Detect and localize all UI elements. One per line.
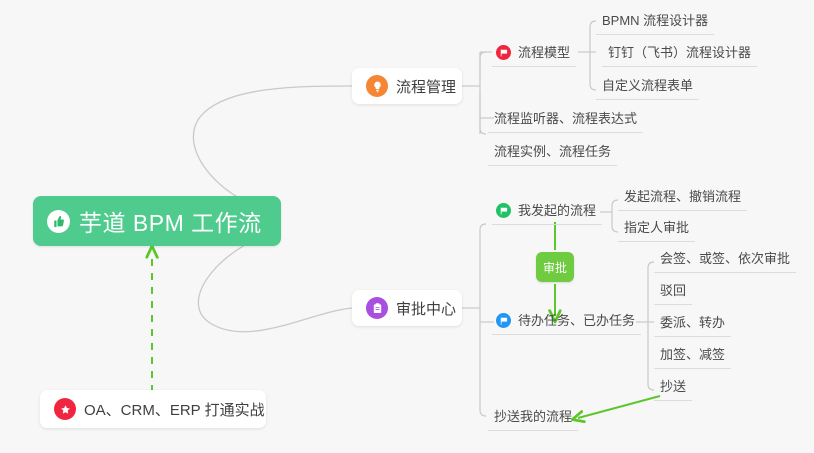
connector-sz-bracket [480, 224, 486, 416]
branch-node-liucheng-guanli[interactable]: 流程管理 [352, 68, 462, 104]
lightbulb-icon [366, 75, 388, 97]
leaf-chaosong-wode-liucheng[interactable]: 抄送我的流程 [488, 408, 578, 431]
mindmap-canvas: 芋道 BPM 工作流 流程管理 流程模型 BPMN 流程设计器 钉钉（飞书）流程… [0, 0, 814, 453]
leaf-listener-expression[interactable]: 流程监听器、流程表达式 [488, 110, 643, 133]
leaf-cc[interactable]: 抄送 [654, 378, 692, 401]
leaf-reject[interactable]: 驳回 [654, 282, 692, 305]
node-label: OA、CRM、ERP 打通实战 [84, 399, 265, 420]
arrow-chaosong-to-chaosongwode [578, 396, 660, 418]
branch-label: 流程管理 [396, 76, 456, 97]
node-label: 待办任务、已办任务 [518, 312, 635, 329]
leaf-instance-task[interactable]: 流程实例、流程任务 [488, 143, 617, 166]
flag-icon [496, 203, 511, 218]
connector-root-to-liucheng-guanli [193, 86, 352, 213]
clipboard-icon [366, 297, 388, 319]
flag-icon [496, 313, 511, 328]
root-node[interactable]: 芋道 BPM 工作流 [33, 196, 281, 246]
flag-icon [496, 45, 511, 60]
branch-node-shenpi-zhongxin[interactable]: 审批中心 [352, 290, 462, 326]
node-label: 我发起的流程 [518, 202, 596, 219]
node-wo-faqi-de-liucheng[interactable]: 我发起的流程 [492, 202, 602, 225]
connector-root-to-shenpi-zhongxin [198, 231, 352, 332]
leaf-add-remove-sign[interactable]: 加签、减签 [654, 346, 731, 369]
leaf-dingtalk-designer[interactable]: 钉钉（飞书）流程设计器 [602, 44, 757, 67]
branch-label: 审批中心 [396, 298, 456, 319]
node-daiban-yiban-renwu[interactable]: 待办任务、已办任务 [492, 312, 641, 335]
leaf-assignee-approval[interactable]: 指定人审批 [618, 219, 695, 242]
thumbs-up-icon [47, 210, 70, 233]
node-oa-crm-erp[interactable]: OA、CRM、ERP 打通实战 [40, 390, 266, 428]
badge-label: 审批 [543, 259, 567, 276]
leaf-start-cancel-process[interactable]: 发起流程、撤销流程 [618, 188, 747, 211]
node-label: 流程模型 [518, 44, 570, 61]
connector-lg-vertical [480, 52, 486, 134]
root-label: 芋道 BPM 工作流 [79, 204, 262, 238]
leaf-delegate-transfer[interactable]: 委派、转办 [654, 314, 731, 337]
badge-shenpi[interactable]: 审批 [536, 252, 574, 282]
star-icon [54, 398, 76, 420]
leaf-bpmn-designer[interactable]: BPMN 流程设计器 [596, 12, 714, 35]
node-liucheng-moxing[interactable]: 流程模型 [492, 44, 576, 67]
leaf-countersign[interactable]: 会签、或签、依次审批 [654, 250, 796, 273]
leaf-custom-form[interactable]: 自定义流程表单 [596, 77, 699, 100]
